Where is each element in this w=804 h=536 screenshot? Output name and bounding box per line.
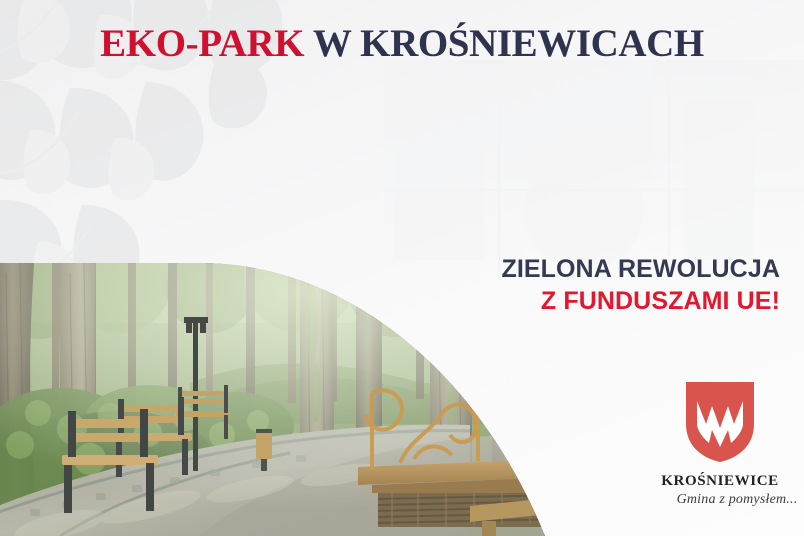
background-watermark-icon <box>384 60 804 280</box>
headline-eko-park: EKO-PARK <box>100 22 304 65</box>
poster-headline: EKO-PARK W KROŚNIEWICACH <box>0 24 804 63</box>
headline-location: W KROŚNIEWICACH <box>304 22 704 65</box>
park-photo <box>0 263 560 536</box>
park-photo-container <box>0 263 560 536</box>
logo-tagline: Gmina z pomysłem... <box>674 492 800 508</box>
logo-municipality-name: KROŚNIEWICE <box>640 473 800 490</box>
coat-of-arms-icon <box>684 380 756 464</box>
poster-canvas: EKO-PARK W KROŚNIEWICACH ZIELONA REWOLUC… <box>0 0 804 536</box>
municipality-logo: KROŚNIEWICE Gmina z pomysłem... <box>640 380 800 525</box>
